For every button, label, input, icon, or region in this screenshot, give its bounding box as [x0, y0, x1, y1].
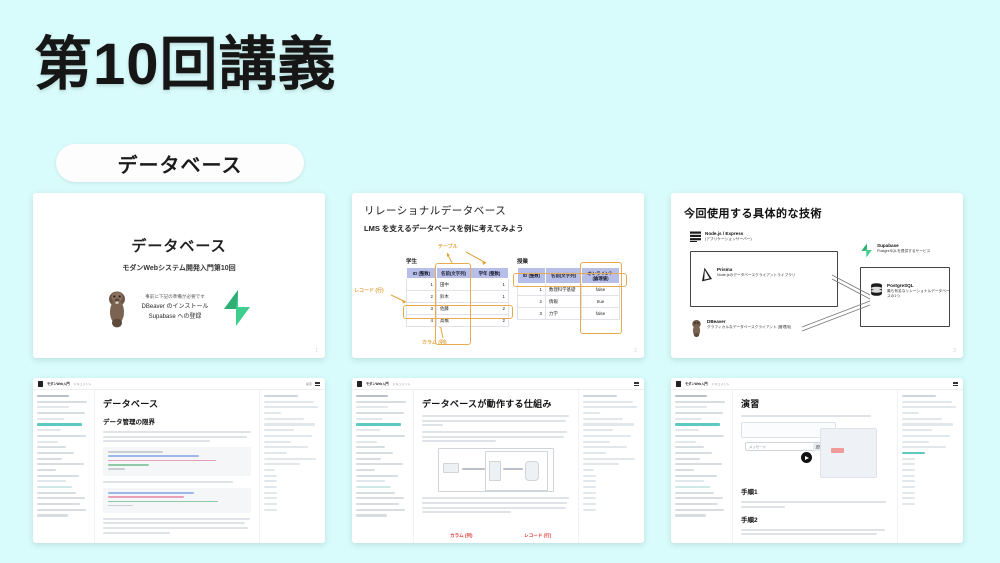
sidebar-item[interactable] — [37, 446, 66, 448]
sidebar-item[interactable] — [37, 458, 62, 460]
doc1-brand: モダンWeb入門 — [47, 381, 70, 386]
toc-item[interactable] — [264, 423, 315, 425]
slide1-subtitle: モダンWebシステム開発入門第10回 — [33, 263, 325, 273]
doc1-nav-link: ドキュメント — [74, 382, 92, 386]
slide-card-rdb[interactable]: リレーショナルデータベース LMS を支えるデータベースを例に考えてみよう テー… — [352, 193, 644, 358]
sidebar-item[interactable] — [675, 435, 724, 437]
sidebar-item[interactable] — [675, 441, 696, 443]
toc-item[interactable] — [583, 435, 631, 437]
table-row: 1 田中 1 — [407, 279, 509, 291]
doc2-paragraph-1 — [422, 415, 570, 426]
slide-card-title[interactable]: データベース モダンWebシステム開発入門第10回 事前に下記の準備が必要です … — [33, 193, 325, 358]
tech-supabase-desc: PostgreSQLを提供するサービス — [877, 249, 930, 254]
diagram-connector-2 — [503, 468, 523, 470]
topic-badge-label: データベース — [118, 149, 243, 178]
doc1-subtitle: データ管理の限界 — [103, 416, 251, 426]
toc-item[interactable] — [583, 463, 619, 465]
sidebar-item[interactable] — [356, 412, 404, 414]
toc-item[interactable] — [902, 458, 915, 460]
doc2-header: モダンWeb入門 ドキュメント — [352, 378, 644, 390]
sidebar-item[interactable] — [37, 401, 87, 403]
toc-item[interactable] — [583, 469, 594, 471]
toc-item[interactable] — [264, 446, 308, 448]
sidebar-item[interactable] — [356, 406, 388, 408]
toc-item[interactable] — [583, 503, 596, 505]
td-c-2-2: false — [582, 308, 620, 320]
sidebar-item[interactable] — [675, 452, 712, 454]
sidebar-item-active[interactable] — [37, 423, 82, 425]
toc-item[interactable] — [902, 441, 929, 443]
table-classes-caption: 授業 — [517, 257, 620, 265]
presentation-overview-page: 第10回講義 データベース データベース モダンWebシステム開発入門第10回 — [0, 0, 1000, 563]
td-s-2-1: 佐藤 — [437, 303, 471, 315]
doc3-step-1: 手順1 — [741, 486, 889, 496]
toc-item[interactable] — [583, 441, 610, 443]
sidebar-item[interactable] — [37, 441, 58, 443]
doc1-main: データベース データ管理の限界 — [95, 390, 259, 543]
tech-postgresql-desc: 最も有名なリレーショナルデータベースの1つ — [887, 289, 950, 299]
td-s-0-1: 田中 — [437, 279, 471, 291]
td-c-0-0: 1 — [518, 284, 546, 296]
toc-item[interactable] — [583, 497, 596, 499]
toc-item[interactable] — [902, 492, 915, 494]
td-c-0-2: false — [582, 284, 620, 296]
sidebar-item-active[interactable] — [675, 423, 720, 425]
doc1-sidebar[interactable] — [33, 390, 95, 543]
sidebar-item[interactable] — [37, 435, 86, 437]
sidebar-item[interactable] — [675, 418, 702, 420]
toc-item[interactable] — [902, 401, 952, 403]
diagram-laptop — [443, 463, 459, 473]
slide2-diagram: テーブル レコード (行) カラム (列) — [364, 243, 632, 351]
database-cylinder-icon — [870, 283, 883, 297]
sidebar-item[interactable] — [675, 509, 724, 511]
td-s-1-2: 1 — [471, 291, 509, 303]
td-c-2-1: 力学 — [546, 308, 582, 320]
annotation-record: レコード (行) — [354, 287, 384, 294]
sidebar-item[interactable] — [675, 446, 704, 448]
topic-badge: データベース — [56, 144, 304, 182]
sidebar-item[interactable] — [37, 418, 64, 420]
diagram-connector-1 — [462, 468, 485, 470]
table-row-header: ID (整数) 名前(文字列) 学年 (整数) — [407, 268, 509, 279]
toc-item[interactable] — [583, 486, 596, 488]
doc2-toc[interactable] — [578, 390, 644, 543]
sidebar-item[interactable] — [675, 429, 699, 431]
annotation-record-red: レコード (行) — [524, 533, 551, 539]
toc-item[interactable] — [583, 446, 627, 448]
toc-item[interactable] — [264, 429, 294, 431]
dbeaver-beaver-icon — [104, 288, 130, 328]
sidebar-item[interactable] — [37, 497, 85, 499]
doc1-paragraph-2 — [103, 481, 251, 483]
toc-item[interactable] — [902, 480, 915, 482]
sidebar-item[interactable] — [356, 401, 406, 403]
dbeaver-beaver-icon — [690, 319, 703, 337]
sidebar-item[interactable] — [356, 503, 399, 505]
tech-dbeaver-desc: グラフィカルなデータベースクライアント (管理用) — [707, 325, 791, 330]
tech-postgresql: PostgreSQL 最も有名なリレーショナルデータベースの1つ — [870, 283, 950, 299]
table-students-caption: 学生 — [406, 257, 509, 265]
table-row: 2 情報 true — [518, 296, 620, 308]
table-row: 3 佐藤 2 — [407, 303, 509, 315]
tech-nodejs: Node.js / Express (アプリケーションサーバー) — [690, 231, 752, 242]
toc-item[interactable] — [264, 401, 314, 403]
sidebar-item[interactable] — [675, 458, 700, 460]
toc-item[interactable] — [583, 458, 635, 460]
sidebar-item[interactable] — [37, 406, 69, 408]
toc-item[interactable] — [264, 418, 304, 420]
table-classes-grid: ID (整数) 名前(文字列) オンライン？ (論理値) 1 数理科学基礎 fa… — [517, 267, 620, 320]
td-s-3-1: 高橋 — [437, 315, 471, 327]
sidebar-item[interactable] — [675, 475, 717, 477]
slide3-title: 今回使用する具体的な技術 — [684, 205, 950, 221]
th-students-2: 学年 (整数) — [471, 268, 509, 279]
toc-item[interactable] — [583, 401, 633, 403]
toc-heading — [264, 395, 298, 397]
sidebar-item[interactable] — [675, 406, 707, 408]
doc-card-mechanism[interactable]: モダンWeb入門 ドキュメント — [352, 378, 644, 543]
diagram-database — [525, 461, 539, 481]
doc3-sidebar[interactable] — [671, 390, 733, 543]
table-classes: 授業 ID (整数) 名前(文字列) オンライン？ (論理値) 1 数理科学基礎… — [517, 257, 620, 320]
table-row: 1 数理科学基礎 false — [518, 284, 620, 296]
sidebar-item[interactable] — [37, 492, 76, 494]
td-s-1-0: 2 — [407, 291, 437, 303]
toc-item[interactable] — [264, 480, 277, 482]
sidebar-heading — [37, 395, 69, 397]
toc-heading — [902, 395, 936, 397]
toc-item[interactable] — [264, 463, 300, 465]
td-c-2-0: 3 — [518, 308, 546, 320]
td-s-2-0: 3 — [407, 303, 437, 315]
toc-item[interactable] — [264, 492, 277, 494]
site-logo-icon — [676, 381, 681, 387]
th-classes-1: 名前(文字列) — [546, 268, 582, 284]
td-s-2-2: 2 — [471, 303, 509, 315]
toc-item[interactable] — [902, 423, 953, 425]
toc-item[interactable] — [264, 475, 277, 477]
doc3-step-2: 手順2 — [741, 514, 889, 524]
sidebar-item[interactable] — [356, 492, 395, 494]
slide1-prep-1: DBeaver のインストール — [142, 302, 209, 313]
toc-item[interactable] — [583, 509, 596, 511]
slide-grid: データベース モダンWebシステム開発入門第10回 事前に下記の準備が必要です … — [33, 193, 967, 543]
doc2-paragraph-2 — [422, 431, 570, 442]
slide2-subtitle: LMS を支えるデータベースを例に考えてみよう — [364, 223, 632, 234]
doc3-nav-link: ドキュメント — [712, 382, 730, 386]
doc2-body: データベースが動作する仕組み — [352, 390, 644, 543]
slide1-prep-2: Supabase への登録 — [142, 312, 209, 323]
sidebar-item[interactable] — [675, 497, 723, 499]
sidebar-item-selected[interactable] — [675, 486, 710, 488]
toc-item[interactable] — [583, 480, 596, 482]
doc1-header-right: 検索 — [306, 382, 320, 386]
toc-item[interactable] — [902, 429, 932, 431]
td-c-0-1: 数理科学基礎 — [546, 284, 582, 296]
sidebar-item-active[interactable] — [356, 423, 401, 425]
sidebar-item[interactable] — [356, 514, 387, 516]
sidebar-item[interactable] — [356, 429, 380, 431]
doc3-brand: モダンWeb入門 — [685, 381, 708, 386]
sidebar-item[interactable] — [675, 463, 722, 465]
slide2-title: リレーショナルデータベース — [364, 203, 632, 218]
toc-item[interactable] — [902, 475, 915, 477]
th-classes-2: オンライン？ (論理値) — [582, 268, 620, 284]
doc1-code-block-1 — [103, 447, 251, 476]
diagram-app-server — [489, 461, 500, 481]
sidebar-item[interactable] — [675, 480, 704, 482]
toc-item[interactable] — [583, 492, 596, 494]
toc-item[interactable] — [264, 441, 291, 443]
sidebar-heading — [356, 395, 388, 397]
toc-item[interactable] — [264, 509, 277, 511]
doc1-toc[interactable] — [259, 390, 325, 543]
doc2-brand: モダンWeb入門 — [366, 381, 389, 386]
toc-item[interactable] — [264, 452, 287, 454]
toc-item[interactable] — [264, 469, 275, 471]
sidebar-item[interactable] — [37, 480, 66, 482]
sidebar-item[interactable] — [675, 514, 706, 516]
toc-item[interactable] — [902, 497, 915, 499]
sidebar-item[interactable] — [356, 418, 383, 420]
supabase-logo — [220, 289, 254, 327]
sidebar-item[interactable] — [356, 452, 393, 454]
toc-item[interactable] — [264, 406, 318, 408]
sidebar-item[interactable] — [675, 401, 725, 403]
sidebar-item[interactable] — [37, 412, 85, 414]
message-input[interactable]: メッセージ 送信 — [745, 442, 829, 451]
toc-item[interactable] — [902, 503, 915, 505]
toc-item[interactable] — [264, 486, 277, 488]
doc1-search[interactable]: 検索 — [306, 382, 312, 386]
doc3-header-right — [953, 382, 958, 386]
slide1-body: 事前に下記の準備が必要です DBeaver のインストール Supabase へ… — [33, 288, 325, 328]
slide3-page-number: 3 — [953, 348, 956, 354]
message-input-placeholder: メッセージ — [749, 444, 766, 449]
toc-item[interactable] — [902, 418, 942, 420]
doc2-architecture-diagram — [438, 448, 553, 492]
toc-item[interactable] — [583, 412, 600, 414]
menu-icon[interactable] — [315, 382, 320, 386]
toc-item[interactable] — [902, 463, 915, 465]
td-c-1-0: 2 — [518, 296, 546, 308]
slide3-diagram: Node.js / Express (アプリケーションサーバー) Prisma … — [684, 231, 950, 343]
toc-item[interactable] — [264, 497, 277, 499]
td-c-1-2: true — [582, 296, 620, 308]
tech-dbeaver: DBeaver グラフィカルなデータベースクライアント (管理用) — [690, 319, 791, 337]
td-s-3-0: 4 — [407, 315, 437, 327]
th-students-0: ID (整数) — [407, 268, 437, 279]
doc3-step-1-body — [741, 501, 889, 508]
doc2-sidebar[interactable] — [352, 390, 414, 543]
sidebar-item[interactable] — [356, 480, 385, 482]
site-logo-icon — [38, 381, 43, 387]
tech-nodejs-desc: (アプリケーションサーバー) — [705, 237, 752, 242]
doc-card-exercise[interactable]: モダンWeb入門 ドキュメント — [671, 378, 963, 543]
doc2-title: データベースが動作する仕組み — [422, 397, 570, 410]
toc-item[interactable] — [902, 469, 915, 471]
toc-item[interactable] — [902, 406, 956, 408]
slide1-page-number: 1 — [315, 348, 318, 354]
toc-item[interactable] — [902, 435, 950, 437]
slide-card-tech[interactable]: 今回使用する具体的な技術 — [671, 193, 963, 358]
sidebar-item-selected[interactable] — [356, 486, 391, 488]
toc-item[interactable] — [264, 435, 312, 437]
toc-item[interactable] — [902, 412, 919, 414]
doc1-paragraph-3 — [103, 518, 251, 534]
menu-icon[interactable] — [953, 382, 958, 386]
table-row-header: ID (整数) 名前(文字列) オンライン？ (論理値) — [518, 268, 620, 284]
sidebar-item[interactable] — [356, 463, 403, 465]
sidebar-item[interactable] — [356, 497, 404, 499]
slide2-page-number: 2 — [634, 348, 637, 354]
doc3-step-2-body — [741, 529, 889, 536]
sidebar-item[interactable] — [356, 458, 381, 460]
sidebar-item-selected[interactable] — [37, 486, 72, 488]
video-highlight-row — [831, 448, 845, 453]
annotation-table: テーブル — [438, 243, 458, 250]
play-button[interactable] — [801, 452, 812, 463]
sidebar-item[interactable] — [356, 435, 405, 437]
sidebar-item[interactable] — [37, 452, 74, 454]
slide1-notice: 事前に下記の準備が必要です — [142, 293, 209, 301]
th-classes-0: ID (整数) — [518, 268, 546, 284]
toc-item[interactable] — [902, 446, 946, 448]
toc-item[interactable] — [583, 452, 606, 454]
doc3-title: 演習 — [741, 397, 889, 410]
doc3-main: 演習 メッセージ 送信 — [733, 390, 897, 543]
sidebar-item[interactable] — [675, 503, 718, 505]
toc-item[interactable] — [264, 412, 281, 414]
sidebar-item[interactable] — [37, 469, 56, 471]
toc-item[interactable] — [583, 406, 637, 408]
table-students-grid: ID (整数) 名前(文字列) 学年 (整数) 1 田中 1 2 鈴木 — [406, 267, 509, 327]
toc-item[interactable] — [583, 475, 596, 477]
page-title: 第10回講義 — [34, 32, 337, 99]
toc-heading — [583, 395, 617, 397]
table-students: 学生 ID (整数) 名前(文字列) 学年 (整数) 1 田中 1 — [406, 257, 509, 327]
sidebar-item[interactable] — [675, 492, 714, 494]
doc3-body: 演習 メッセージ 送信 — [671, 390, 963, 543]
video-editor-pane — [820, 428, 877, 478]
sidebar-item[interactable] — [356, 441, 377, 443]
prisma-logo — [700, 267, 713, 282]
td-s-1-1: 鈴木 — [437, 291, 471, 303]
th-students-1: 名前(文字列) — [437, 268, 471, 279]
table-row: 2 鈴木 1 — [407, 291, 509, 303]
sidebar-item[interactable] — [37, 509, 86, 511]
doc1-paragraph-1 — [103, 431, 251, 442]
toc-item[interactable] — [902, 486, 915, 488]
td-s-0-0: 1 — [407, 279, 437, 291]
toc-item[interactable] — [264, 458, 316, 460]
sidebar-item[interactable] — [675, 469, 694, 471]
sidebar-item[interactable] — [37, 475, 79, 477]
doc3-video-embed[interactable]: メッセージ 送信 — [741, 422, 877, 480]
sidebar-item[interactable] — [675, 412, 723, 414]
sidebar-item[interactable] — [37, 503, 80, 505]
video-message-form: メッセージ 送信 — [745, 442, 829, 451]
tech-prisma-desc: Node.jsのデータベースクライアントライブラリ — [717, 273, 796, 278]
toc-item-active[interactable] — [902, 452, 925, 454]
slide1-prep-list: 事前に下記の準備が必要です DBeaver のインストール Supabase へ… — [142, 293, 209, 322]
toc-item[interactable] — [583, 418, 623, 420]
table-row: 4 高橋 2 — [407, 315, 509, 327]
toc-item[interactable] — [583, 423, 634, 425]
doc3-intro — [741, 415, 889, 417]
doc2-paragraph-3 — [422, 497, 570, 513]
tech-supabase: Supabase PostgreSQLを提供するサービス — [860, 243, 930, 258]
menu-icon[interactable] — [634, 382, 639, 386]
sidebar-item[interactable] — [37, 514, 68, 516]
td-s-3-2: 2 — [471, 315, 509, 327]
slide1-title: データベース — [33, 235, 325, 256]
doc1-header: モダンWeb入門 ドキュメント 検索 — [33, 378, 325, 390]
td-s-0-2: 1 — [471, 279, 509, 291]
doc3-toc[interactable] — [897, 390, 963, 543]
sidebar-item[interactable] — [37, 429, 61, 431]
doc1-code-block-2 — [103, 488, 251, 513]
td-c-1-1: 情報 — [546, 296, 582, 308]
site-logo-icon — [357, 381, 362, 387]
server-stack-icon — [690, 231, 701, 242]
doc1-title: データベース — [103, 397, 251, 410]
doc2-header-right — [634, 382, 639, 386]
supabase-logo — [860, 243, 873, 258]
doc2-main: データベースが動作する仕組み — [414, 390, 578, 543]
tech-prisma: Prisma Node.jsのデータベースクライアントライブラリ — [700, 267, 796, 282]
sidebar-item[interactable] — [356, 475, 398, 477]
annotation-column-red: カラム (列) — [450, 533, 473, 539]
toc-item[interactable] — [583, 429, 613, 431]
sidebar-heading — [675, 395, 707, 397]
doc3-header: モダンWeb入門 ドキュメント — [671, 378, 963, 390]
doc2-nav-link: ドキュメント — [393, 382, 411, 386]
sidebar-item[interactable] — [356, 469, 375, 471]
sidebar-item[interactable] — [356, 446, 385, 448]
toc-item[interactable] — [264, 503, 277, 505]
table-row: 3 力学 false — [518, 308, 620, 320]
sidebar-item[interactable] — [37, 463, 84, 465]
sidebar-item[interactable] — [356, 509, 405, 511]
doc1-body: データベース データ管理の限界 — [33, 390, 325, 543]
doc-card-database[interactable]: モダンWeb入門 ドキュメント 検索 — [33, 378, 325, 543]
